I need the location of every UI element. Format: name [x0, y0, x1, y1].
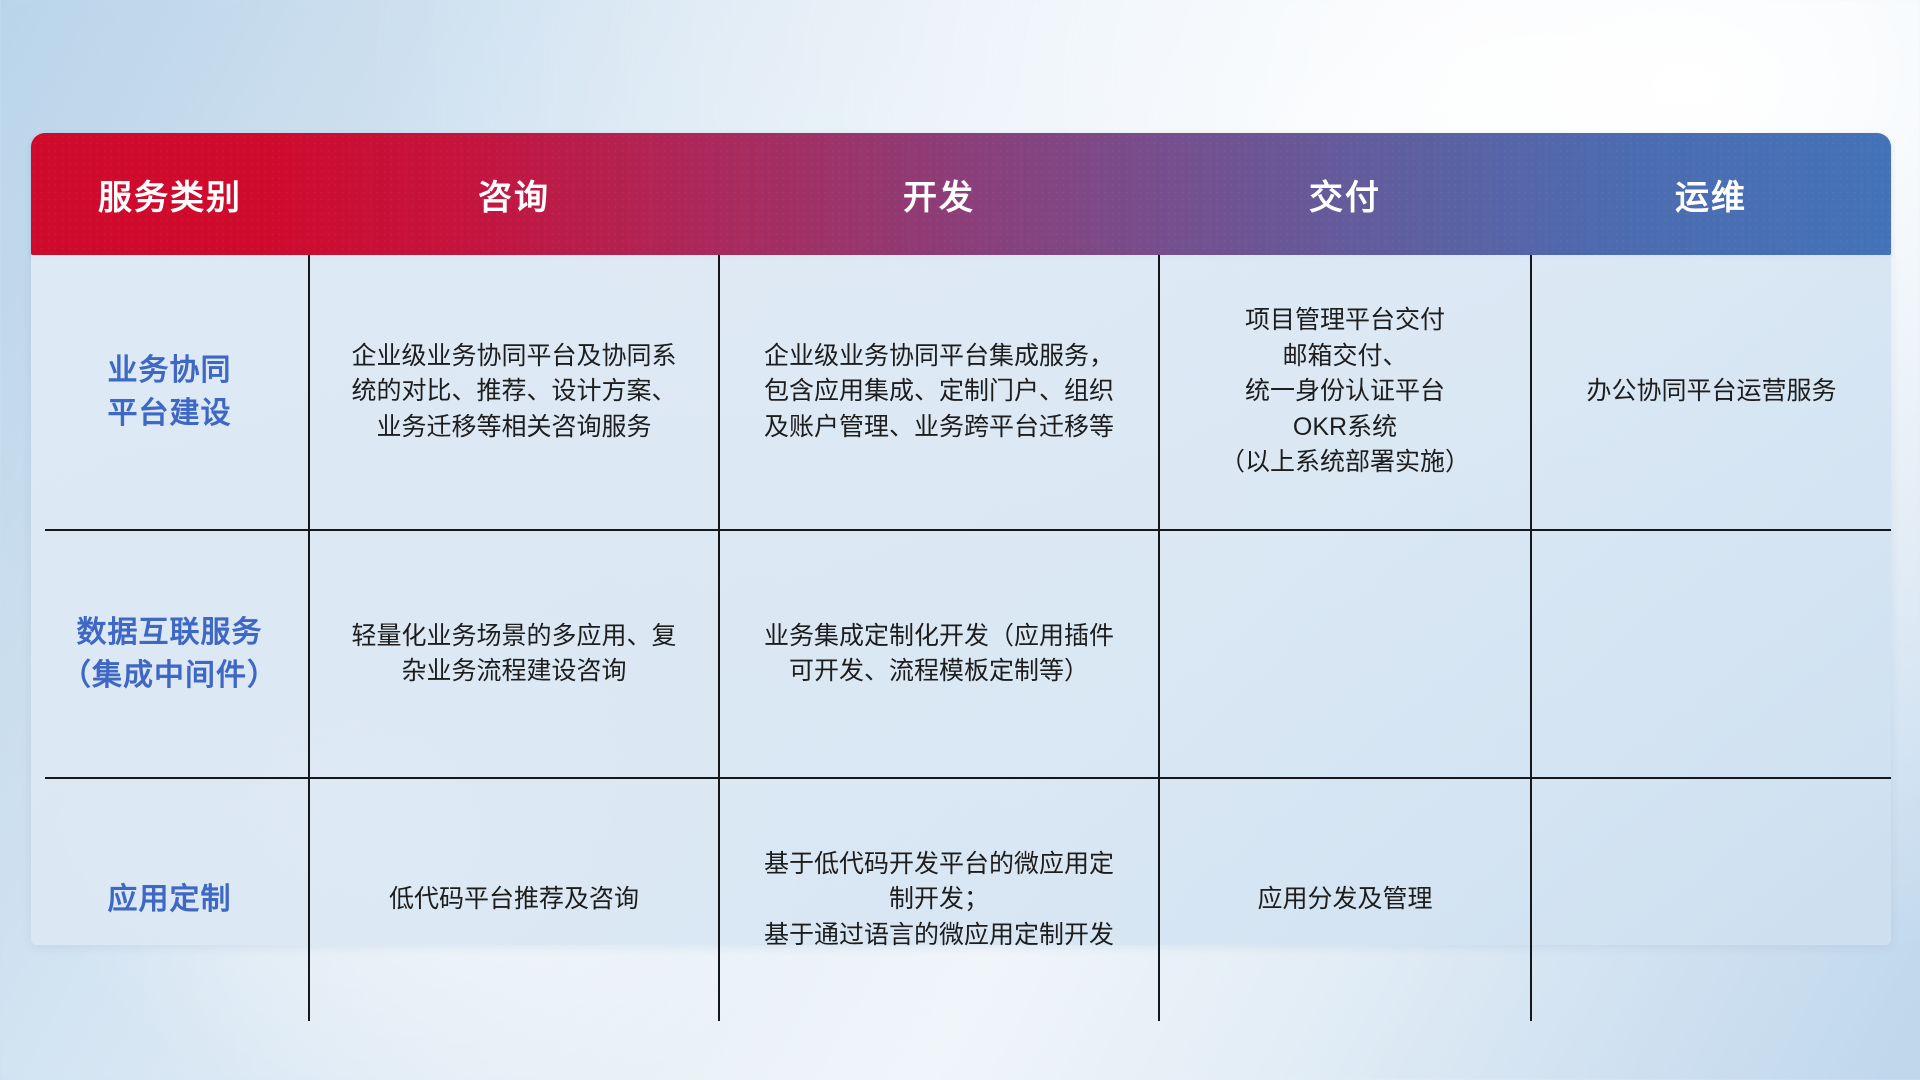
cell-delivery	[1159, 530, 1531, 778]
row-category-label: 应用定制	[31, 778, 309, 1021]
cell-consulting: 低代码平台推荐及咨询	[309, 778, 719, 1021]
table: 服务类别 咨询 开发 交付 运维 业务协同 平台建设 企业级业务协同平台及协同系…	[31, 133, 1891, 1021]
table-head: 服务类别 咨询 开发 交付 运维	[31, 133, 1891, 255]
cell-operations: 办公协同平台运营服务	[1531, 255, 1891, 530]
cell-delivery: 项目管理平台交付 邮箱交付、 统一身份认证平台 OKR系统 （以上系统部署实施）	[1159, 255, 1531, 530]
cell-operations	[1531, 530, 1891, 778]
cell-development: 业务集成定制化开发（应用插件 可开发、流程模板定制等）	[719, 530, 1159, 778]
cell-development: 基于低代码开发平台的微应用定 制开发； 基于通过语言的微应用定制开发	[719, 778, 1159, 1021]
header-row: 服务类别 咨询 开发 交付 运维	[31, 133, 1891, 255]
column-header-development: 开发	[719, 133, 1159, 255]
table-row: 业务协同 平台建设 企业级业务协同平台及协同系 统的对比、推荐、设计方案、 业务…	[31, 255, 1891, 530]
row-category-label: 数据互联服务 （集成中间件）	[31, 530, 309, 778]
table-row: 数据互联服务 （集成中间件） 轻量化业务场景的多应用、复 杂业务流程建设咨询 业…	[31, 530, 1891, 778]
service-matrix-table: 服务类别 咨询 开发 交付 运维 业务协同 平台建设 企业级业务协同平台及协同系…	[31, 133, 1891, 1021]
column-header-consulting: 咨询	[309, 133, 719, 255]
cell-development: 企业级业务协同平台集成服务， 包含应用集成、定制门户、组织 及账户管理、业务跨平…	[719, 255, 1159, 530]
slide-canvas: 服务类别 咨询 开发 交付 运维 业务协同 平台建设 企业级业务协同平台及协同系…	[0, 0, 1920, 1080]
cell-consulting: 轻量化业务场景的多应用、复 杂业务流程建设咨询	[309, 530, 719, 778]
column-header-category: 服务类别	[31, 133, 309, 255]
cell-operations	[1531, 778, 1891, 1021]
cell-delivery: 应用分发及管理	[1159, 778, 1531, 1021]
table-row: 应用定制 低代码平台推荐及咨询 基于低代码开发平台的微应用定 制开发； 基于通过…	[31, 778, 1891, 1021]
row-category-label: 业务协同 平台建设	[31, 255, 309, 530]
table-body: 业务协同 平台建设 企业级业务协同平台及协同系 统的对比、推荐、设计方案、 业务…	[31, 255, 1891, 1021]
column-header-operations: 运维	[1531, 133, 1891, 255]
cell-consulting: 企业级业务协同平台及协同系 统的对比、推荐、设计方案、 业务迁移等相关咨询服务	[309, 255, 719, 530]
column-header-delivery: 交付	[1159, 133, 1531, 255]
